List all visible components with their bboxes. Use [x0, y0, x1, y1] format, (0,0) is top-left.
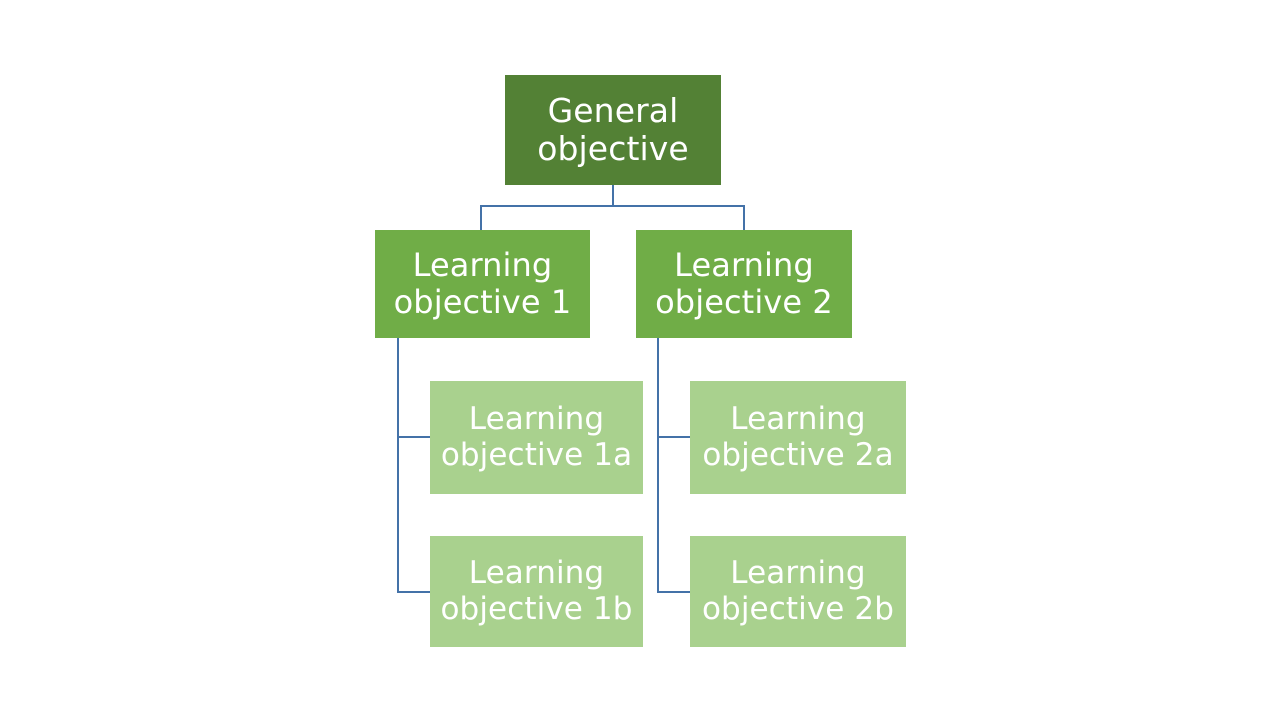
diagram-canvas: General objective Learning objective 1 L… — [0, 0, 1280, 720]
connector-lo2-to-lo2b — [658, 437, 690, 592]
connector-general-to-lo1 — [481, 185, 613, 230]
node-learning-objective-1b[interactable]: Learning objective 1b — [430, 536, 643, 647]
connector-lo2-to-lo2a — [658, 338, 690, 437]
connector-general-to-lo2 — [613, 206, 744, 230]
node-learning-objective-2[interactable]: Learning objective 2 — [636, 230, 852, 338]
node-general-objective[interactable]: General objective — [505, 75, 721, 185]
node-learning-objective-1[interactable]: Learning objective 1 — [375, 230, 590, 338]
node-learning-objective-1a[interactable]: Learning objective 1a — [430, 381, 643, 494]
connector-lo1-to-lo1a — [398, 338, 430, 437]
node-learning-objective-2b[interactable]: Learning objective 2b — [690, 536, 906, 647]
node-learning-objective-2a[interactable]: Learning objective 2a — [690, 381, 906, 494]
connector-lo1-to-lo1b — [398, 437, 430, 592]
